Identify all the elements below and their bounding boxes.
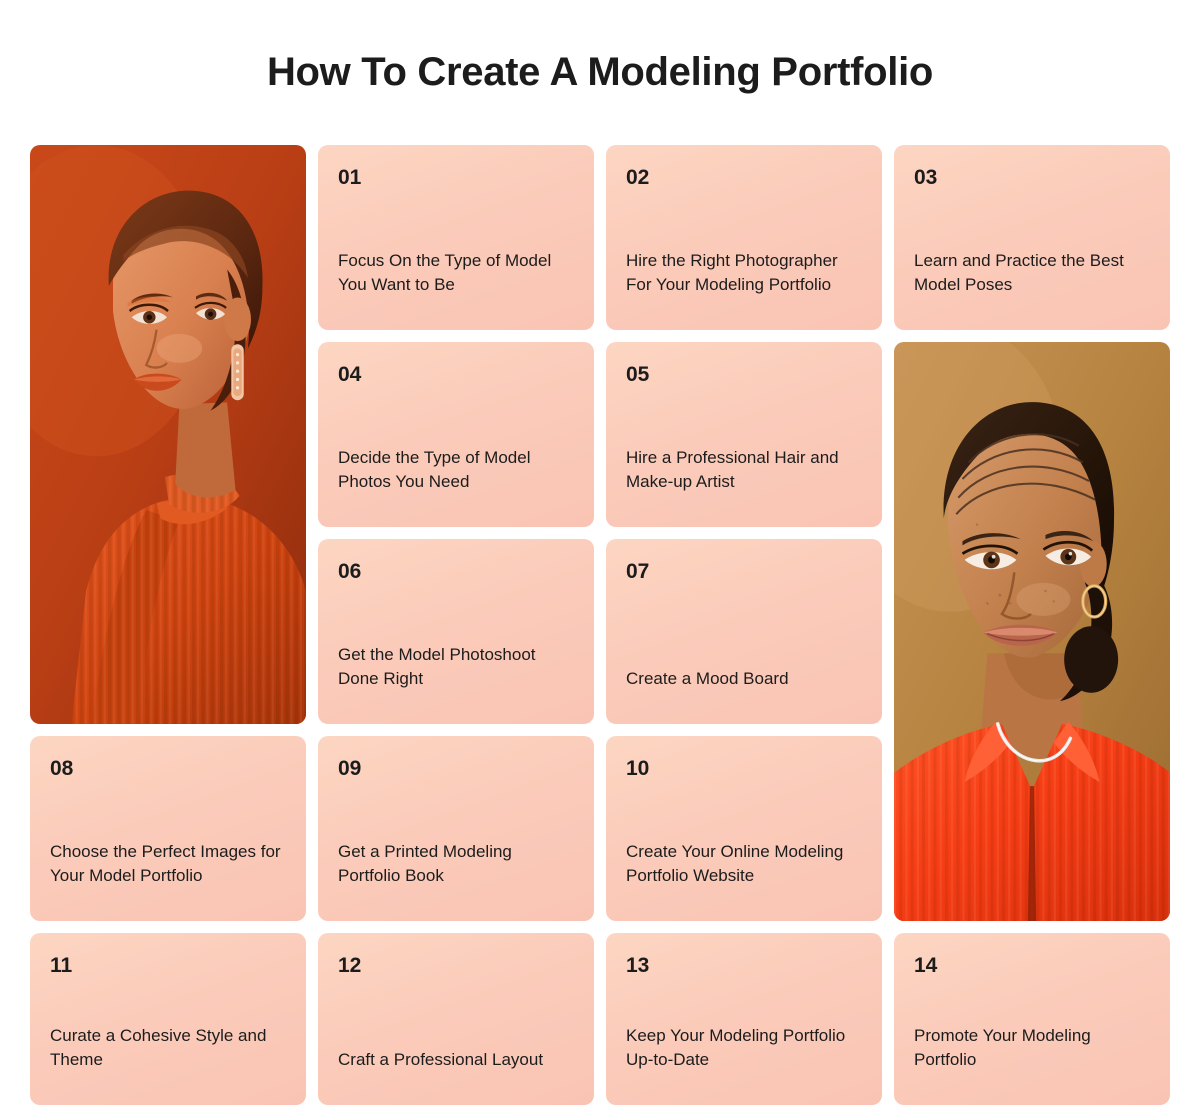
steps-grid: 01 Focus On the Type of Model You Want t… [30,145,1170,1071]
step-number: 09 [338,758,574,779]
step-card-08[interactable]: 08 Choose the Perfect Images for Your Mo… [30,736,306,921]
step-text: Decide the Type of Model Photos You Need [338,446,574,507]
step-card-14[interactable]: 14 Promote Your Modeling Portfolio [894,933,1170,1105]
step-number: 01 [338,167,574,188]
infographic-root: How To Create A Modeling Portfolio [0,0,1200,1103]
step-card-07[interactable]: 07 Create a Mood Board [606,539,882,724]
step-card-05[interactable]: 05 Hire a Professional Hair and Make-up … [606,342,882,527]
step-text: Hire the Right Photographer For Your Mod… [626,249,862,310]
step-card-09[interactable]: 09 Get a Printed Modeling Portfolio Book [318,736,594,921]
step-text: Promote Your Modeling Portfolio [914,1024,1150,1085]
step-card-01[interactable]: 01 Focus On the Type of Model You Want t… [318,145,594,330]
step-number: 14 [914,955,1150,976]
step-text: Learn and Practice the Best Model Poses [914,249,1150,310]
title-bar: How To Create A Modeling Portfolio [0,0,1200,145]
step-text: Create a Mood Board [626,667,862,704]
step-number: 10 [626,758,862,779]
step-number: 12 [338,955,574,976]
model-photo-left-illustration [30,145,306,724]
step-card-06[interactable]: 06 Get the Model Photoshoot Done Right [318,539,594,724]
step-text: Create Your Online Modeling Portfolio We… [626,840,862,901]
step-text: Curate a Cohesive Style and Theme [50,1024,286,1085]
step-card-04[interactable]: 04 Decide the Type of Model Photos You N… [318,342,594,527]
step-number: 04 [338,364,574,385]
step-card-03[interactable]: 03 Learn and Practice the Best Model Pos… [894,145,1170,330]
step-text: Get the Model Photoshoot Done Right [338,643,574,704]
page-title: How To Create A Modeling Portfolio [267,50,933,95]
step-number: 11 [50,955,286,976]
step-number: 07 [626,561,862,582]
step-card-02[interactable]: 02 Hire the Right Photographer For Your … [606,145,882,330]
step-text: Craft a Professional Layout [338,1048,574,1085]
step-number: 06 [338,561,574,582]
step-number: 08 [50,758,286,779]
model-photo-left [30,145,306,724]
model-photo-right [894,342,1170,921]
step-number: 13 [626,955,862,976]
step-card-10[interactable]: 10 Create Your Online Modeling Portfolio… [606,736,882,921]
step-text: Focus On the Type of Model You Want to B… [338,249,574,310]
step-number: 05 [626,364,862,385]
step-number: 03 [914,167,1150,188]
step-card-11[interactable]: 11 Curate a Cohesive Style and Theme [30,933,306,1105]
step-text: Get a Printed Modeling Portfolio Book [338,840,574,901]
step-text: Choose the Perfect Images for Your Model… [50,840,286,901]
model-photo-right-illustration [894,342,1170,921]
step-card-12[interactable]: 12 Craft a Professional Layout [318,933,594,1105]
step-number: 02 [626,167,862,188]
step-card-13[interactable]: 13 Keep Your Modeling Portfolio Up-to-Da… [606,933,882,1105]
step-text: Keep Your Modeling Portfolio Up-to-Date [626,1024,862,1085]
step-text: Hire a Professional Hair and Make-up Art… [626,446,862,507]
